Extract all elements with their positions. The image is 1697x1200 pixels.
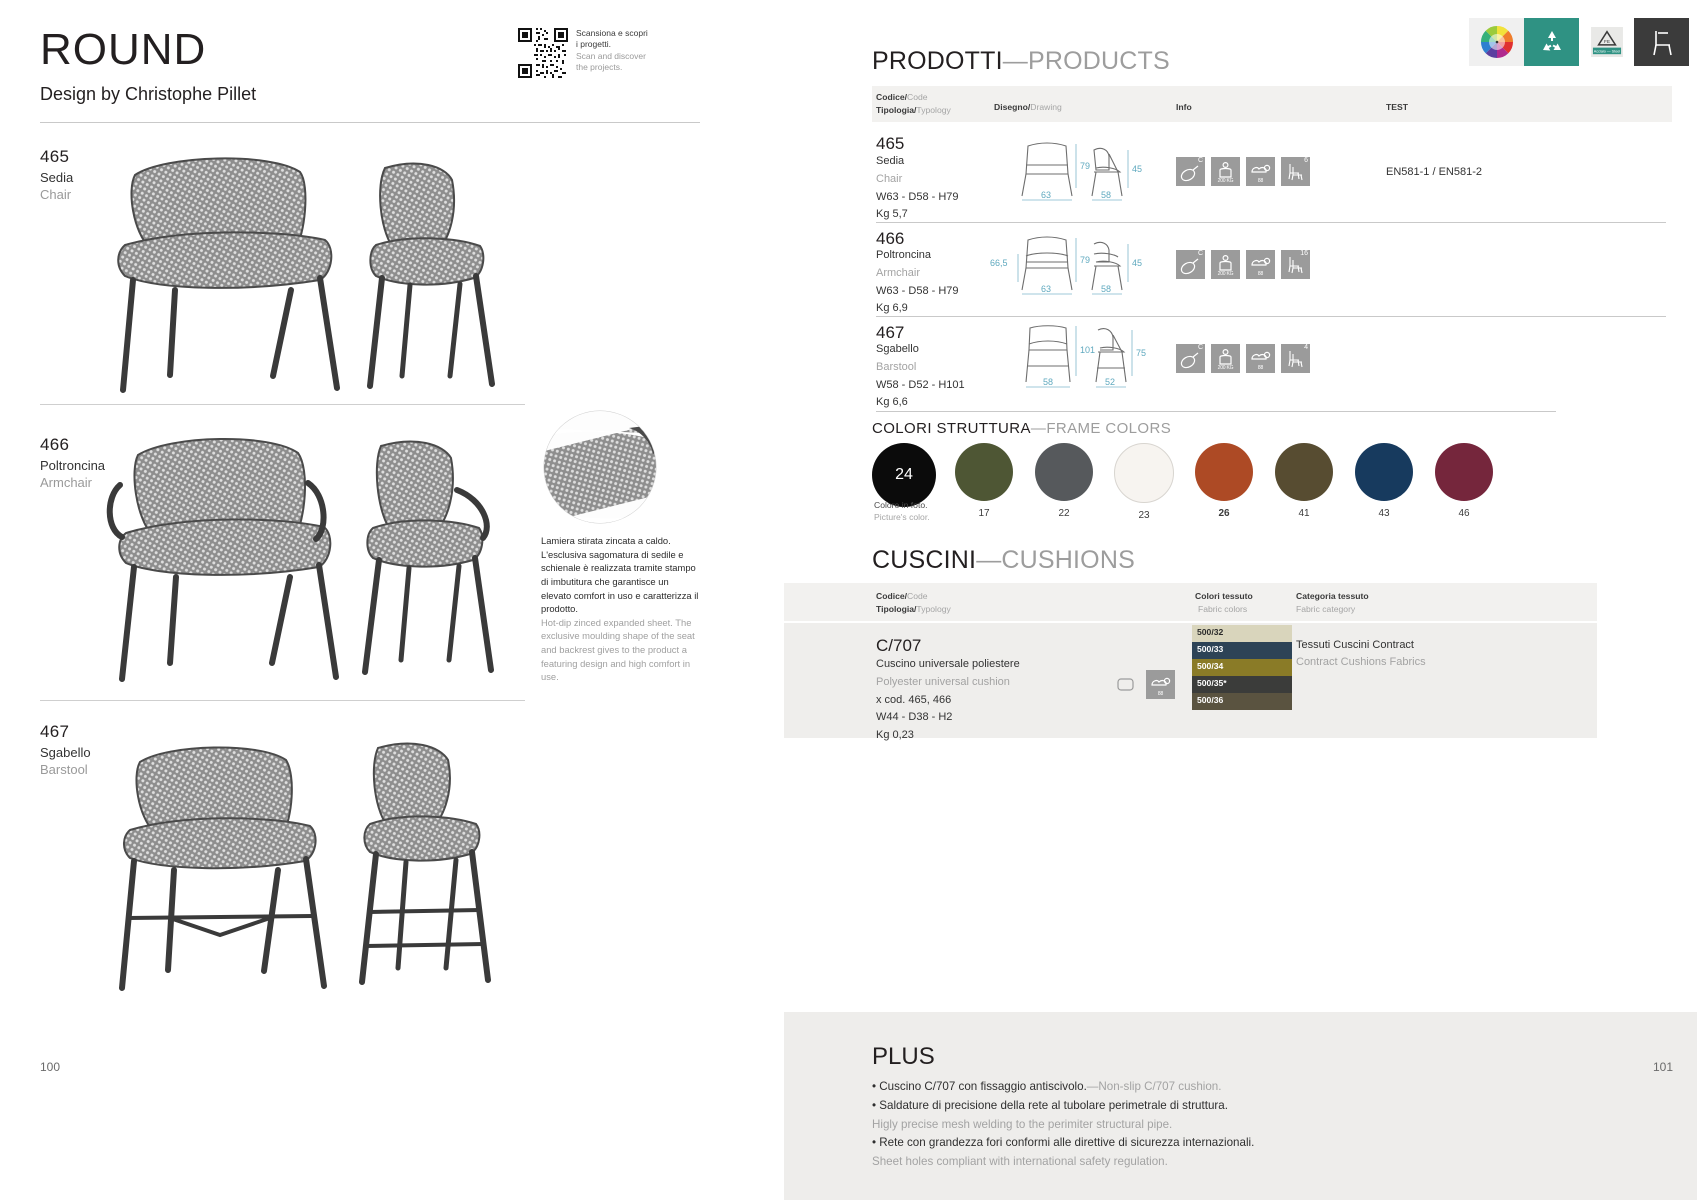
fabric-swatch[interactable]: 500/32 xyxy=(1192,625,1292,642)
frame-colors-title-dash: — xyxy=(1031,420,1046,437)
col-test-label: TEST xyxy=(1386,102,1408,112)
cushion-dims: W44 - D38 - H2 xyxy=(876,709,1020,727)
row-465-front-width: 63 xyxy=(1041,190,1051,200)
paint-roller-icon: C xyxy=(1176,157,1205,186)
cushion-col-fabric-category: Categoria tessuto Fabric category xyxy=(1296,590,1369,616)
product-code: 467 xyxy=(40,722,91,742)
cushion-name-it: Cuscino universale poliestere xyxy=(876,656,1020,674)
row-467-icons: C 200 KG 88 4 xyxy=(1176,344,1310,373)
paint-roller-icon: C xyxy=(1176,250,1205,279)
page-number-left: 100 xyxy=(40,1060,60,1074)
weather-icon: 88 xyxy=(1246,157,1275,186)
weather-icon: 88 xyxy=(1146,670,1175,699)
row-465-info: Sedia Chair W63 - D58 - H79 Kg 5,7 xyxy=(876,153,959,224)
swatch-label: 22 xyxy=(1024,508,1104,519)
catalog-spread: ROUND Design by Christophe Pillet xyxy=(0,0,1697,1200)
row-465-code: 465 xyxy=(876,134,904,154)
fabric-swatch[interactable]: 500/34 xyxy=(1192,659,1292,676)
swatch-label: 43 xyxy=(1344,508,1424,519)
divider-2 xyxy=(40,700,525,701)
svg-text:FE: FE xyxy=(1604,39,1610,44)
col-code-en: Code xyxy=(907,92,928,102)
fabric-label: 500/32 xyxy=(1197,627,1223,637)
recycle-icon xyxy=(1524,18,1579,66)
cushion-compat: x cod. 465, 466 xyxy=(876,692,1020,710)
title-divider xyxy=(40,122,700,123)
cushion-weight: Kg 0,23 xyxy=(876,727,1020,745)
weight-label: 200 KG xyxy=(1211,271,1240,277)
product-name-it: Sedia xyxy=(40,170,73,185)
weight-icon: 200 KG xyxy=(1211,344,1240,373)
swatch-inner-label: 24 xyxy=(895,466,913,484)
cushion-code: C/707 xyxy=(876,636,921,656)
products-title-en: PRODUCTS xyxy=(1028,47,1170,75)
weather-label: 88 xyxy=(1246,365,1275,371)
fabric-label: 500/35* xyxy=(1197,678,1227,688)
row-466-info: Poltroncina Armchair W63 - D58 - H79 Kg … xyxy=(876,247,959,318)
swatch-41[interactable]: 41 xyxy=(1264,443,1344,521)
product-name-en: Armchair xyxy=(40,475,105,490)
fabric-swatch[interactable]: 500/33 xyxy=(1192,642,1292,659)
stacking-icon: 6 xyxy=(1281,157,1310,186)
row-466-front-height: 79 xyxy=(1080,255,1090,265)
weight-label: 200 KG xyxy=(1211,365,1240,371)
row-465-side-width: 58 xyxy=(1101,190,1111,200)
swatch-color: 24 xyxy=(872,443,936,507)
weather-icon: 88 xyxy=(1246,344,1275,373)
row-467-drawing: 101 58 75 52 xyxy=(1010,324,1150,396)
products-title-dash: — xyxy=(1003,47,1028,75)
row-465-name-it: Sedia xyxy=(876,153,959,171)
icon-sup: 6 xyxy=(1304,157,1308,164)
frame-colors-title-en: FRAME COLORS xyxy=(1046,420,1171,437)
icon-sup: C xyxy=(1198,250,1203,257)
product-name-en: Barstool xyxy=(40,762,91,777)
barstool-467-photo xyxy=(100,730,520,1005)
row-467-front-width: 58 xyxy=(1043,377,1053,387)
qr-caption: Scansiona e scopri i progetti. Scan and … xyxy=(576,28,648,74)
col-drawing-it: Disegno/ xyxy=(994,102,1030,112)
cushion-icons: 88 xyxy=(1111,670,1175,699)
product-name-it: Sgabello xyxy=(40,745,91,760)
fabric-category-value-it: Tessuti Cuscini Contract xyxy=(1296,637,1426,654)
qr-block: Scansiona e scopri i progetti. Scan and … xyxy=(518,28,648,78)
row-465-side-height: 45 xyxy=(1132,164,1142,174)
row-466-dims: W63 - D58 - H79 xyxy=(876,283,959,301)
steel-recycle-icon: FE Acciaio — Steel xyxy=(1579,18,1634,66)
swatch-color xyxy=(1035,443,1093,501)
cushion-icon xyxy=(1111,670,1140,699)
weather-icon: 88 xyxy=(1246,250,1275,279)
cushions-title-dash: — xyxy=(976,546,1001,574)
row-466-side-height: 45 xyxy=(1132,258,1142,268)
badge-strip: FE Acciaio — Steel xyxy=(1469,18,1689,66)
cushion-col-code-it: Codice/ xyxy=(876,591,907,601)
weather-label: 88 xyxy=(1246,271,1275,277)
col-typology-en: Typology xyxy=(916,105,950,115)
fabric-category-en: Fabric category xyxy=(1296,604,1355,614)
picture-color-note-en: Picture's color. xyxy=(874,511,930,523)
cushion-col-code: Codice/Code Tipologia/Typology xyxy=(876,590,951,616)
swatch-color xyxy=(1435,443,1493,501)
qr-caption-en-2: the projects. xyxy=(576,62,648,73)
page-title: ROUND xyxy=(40,28,256,72)
plus-item-3-en: Sheet holes compliant with international… xyxy=(872,1153,1254,1172)
fabric-colors-it: Colori tessuto xyxy=(1195,591,1253,601)
armchair-466-photo xyxy=(100,425,520,690)
designer-credit: Design by Christophe Pillet xyxy=(40,84,256,105)
row-467-info: Sgabello Barstool W58 - D52 - H101 Kg 6,… xyxy=(876,341,965,412)
row-465-test: EN581-1 / EN581-2 xyxy=(1386,166,1482,178)
row-467-side-height: 75 xyxy=(1136,348,1146,358)
mesh-detail-photo xyxy=(543,410,657,524)
cushion-col-code-en: Code xyxy=(907,591,928,601)
col-info-label: Info xyxy=(1176,102,1192,112)
row-465-name-en: Chair xyxy=(876,171,959,189)
qr-caption-it-2: i progetti. xyxy=(576,39,648,50)
product-name-en: Chair xyxy=(40,187,73,202)
product-name-it: Poltroncina xyxy=(40,458,105,473)
left-product-467: 467 Sgabello Barstool xyxy=(40,722,91,777)
fabric-category-value: Tessuti Cuscini Contract Contract Cushio… xyxy=(1296,637,1426,670)
swatch-color xyxy=(1195,443,1253,501)
weather-label: 88 xyxy=(1246,178,1275,184)
weather-label: 88 xyxy=(1146,691,1175,697)
weight-icon: 200 KG xyxy=(1211,157,1240,186)
plus-title: PLUS xyxy=(872,1043,935,1071)
right-page: FE Acciaio — Steel PRODOTTI—PRODUCTS C xyxy=(848,0,1697,1200)
divider-1 xyxy=(40,404,525,405)
row-467-name-it: Sgabello xyxy=(876,341,965,359)
row-467-name-en: Barstool xyxy=(876,359,965,377)
plus-item-2-en: Higly precise mesh welding to the perimi… xyxy=(872,1116,1254,1135)
fabric-swatch-stack: 500/32 500/33 500/34 500/35* 500/36 xyxy=(1192,625,1292,710)
cushion-name-en: Polyester universal cushion xyxy=(876,674,1020,692)
paint-roller-icon: C xyxy=(1176,344,1205,373)
swatch-label: 23 xyxy=(1104,510,1184,521)
row-465-front-height: 79 xyxy=(1080,161,1090,171)
steel-badge-label: Acciaio — Steel xyxy=(1593,50,1620,54)
plus-item-2-it: • Saldature di precisione della rete al … xyxy=(872,1097,1254,1116)
fabric-swatch[interactable]: 500/36 xyxy=(1192,693,1292,710)
left-product-466: 466 Poltroncina Armchair xyxy=(40,435,105,490)
page-number-right: 101 xyxy=(1653,1060,1673,1074)
swatch-color xyxy=(1275,443,1333,501)
fabric-label: 500/34 xyxy=(1197,661,1223,671)
row-466-icons: C 200 KG 88 16 xyxy=(1176,250,1310,279)
row-466-arm-height: 66,5 xyxy=(990,258,1008,268)
qr-code-icon[interactable] xyxy=(518,28,568,78)
row-466-name-en: Armchair xyxy=(876,265,959,283)
cushions-section-title: CUSCINI—CUSHIONS xyxy=(872,546,1135,575)
plus-item-1-dash: — xyxy=(1087,1080,1099,1093)
material-note: Lamiera stirata zincata a caldo. L'esclu… xyxy=(541,534,701,684)
material-note-it: Lamiera stirata zincata a caldo. L'esclu… xyxy=(541,534,701,616)
fabric-swatch[interactable]: 500/35* xyxy=(1192,676,1292,693)
row-466-drawing: 66,5 79 63 45 58 xyxy=(974,232,1154,300)
material-note-en: Hot-dip zinced expanded sheet. The exclu… xyxy=(541,616,701,684)
qr-caption-en-1: Scan and discover xyxy=(576,51,648,62)
row-466-side-width: 58 xyxy=(1101,284,1111,294)
cushion-info: Cuscino universale poliestere Polyester … xyxy=(876,656,1020,745)
plus-list: • Cuscino C/707 con fissaggio antiscivol… xyxy=(872,1078,1254,1172)
row-divider-3 xyxy=(876,411,1556,412)
products-section-title: PRODOTTI—PRODUCTS xyxy=(872,47,1170,76)
products-title-it: PRODOTTI xyxy=(872,47,1003,75)
qr-caption-it-1: Scansiona e scopri xyxy=(576,28,648,39)
swatch-46[interactable]: 46 xyxy=(1424,443,1504,521)
row-466-name-it: Poltroncina xyxy=(876,247,959,265)
col-test: TEST xyxy=(1386,101,1408,114)
stacking-icon: 4 xyxy=(1281,344,1310,373)
icon-sup: 16 xyxy=(1300,250,1308,257)
swatch-26[interactable]: 26 xyxy=(1184,443,1264,521)
product-code: 466 xyxy=(40,435,105,455)
fabric-category-it: Categoria tessuto xyxy=(1296,591,1369,601)
frame-colors-title-it: COLORI STRUTTURA xyxy=(872,420,1031,437)
cushion-col-typology-en: Typology xyxy=(916,604,950,614)
left-page: ROUND Design by Christophe Pillet xyxy=(0,0,848,1200)
row-divider-2 xyxy=(876,316,1666,317)
col-code: Codice/Code Tipologia/Typology xyxy=(876,91,951,117)
row-467-code: 467 xyxy=(876,323,904,343)
weight-icon: 200 KG xyxy=(1211,250,1240,279)
swatch-22[interactable]: 22 xyxy=(1024,443,1104,521)
plus-item-1: • Cuscino C/707 con fissaggio antiscivol… xyxy=(872,1078,1254,1097)
plus-item-1-it: • Cuscino C/707 con fissaggio antiscivol… xyxy=(872,1080,1087,1093)
product-code: 465 xyxy=(40,147,73,167)
row-465-drawing: 79 63 45 58 xyxy=(1010,138,1150,206)
col-code-it: Codice/ xyxy=(876,92,907,102)
row-467-front-height: 101 xyxy=(1080,345,1095,355)
title-block: ROUND Design by Christophe Pillet xyxy=(40,28,256,105)
row-467-side-width: 52 xyxy=(1105,377,1115,387)
swatch-label: 41 xyxy=(1264,508,1344,519)
swatch-label: 26 xyxy=(1184,508,1264,519)
swatch-43[interactable]: 43 xyxy=(1344,443,1424,521)
cushion-col-fabric-colors: Colori tessuto Fabric colors xyxy=(1195,590,1253,616)
plus-item-3-it: • Rete con grandezza fori conformi alle … xyxy=(872,1134,1254,1153)
picture-color-note-it: Colore in foto. xyxy=(874,499,930,511)
row-465-dims: W63 - D58 - H79 xyxy=(876,189,959,207)
col-drawing-en: Drawing xyxy=(1030,102,1062,112)
row-divider-1 xyxy=(876,222,1666,223)
fabric-label: 500/33 xyxy=(1197,644,1223,654)
swatch-color xyxy=(955,443,1013,501)
row-467-weight: Kg 6,6 xyxy=(876,394,965,412)
icon-sup: C xyxy=(1198,157,1203,164)
icon-sup: 4 xyxy=(1304,344,1308,351)
swatch-23[interactable]: 23 xyxy=(1104,443,1184,521)
row-467-dims: W58 - D52 - H101 xyxy=(876,377,965,395)
picture-color-note: Colore in foto. Picture's color. xyxy=(874,499,930,523)
col-typology-it: Tipologia/ xyxy=(876,105,916,115)
fabric-label: 500/36 xyxy=(1197,695,1223,705)
stacking-icon: 16 xyxy=(1281,250,1310,279)
plus-item-1-en: Non-slip C/707 cushion. xyxy=(1098,1080,1221,1093)
swatch-label: 17 xyxy=(944,508,1024,519)
col-drawing: Disegno/Drawing xyxy=(994,101,1062,114)
left-product-465: 465 Sedia Chair xyxy=(40,147,73,202)
row-465-icons: C 200 KG 88 6 xyxy=(1176,157,1310,186)
swatch-label: 46 xyxy=(1424,508,1504,519)
cushions-title-en: CUSHIONS xyxy=(1001,546,1135,574)
col-info: Info xyxy=(1176,101,1192,114)
frame-colors-title: COLORI STRUTTURA—FRAME COLORS xyxy=(872,420,1171,437)
cushions-title-it: CUSCINI xyxy=(872,546,976,574)
row-466-code: 466 xyxy=(876,229,904,249)
weight-label: 200 KG xyxy=(1211,178,1240,184)
fabric-category-value-en: Contract Cushions Fabrics xyxy=(1296,654,1426,671)
chair-465-photo xyxy=(95,140,525,400)
color-wheel-icon xyxy=(1469,18,1524,66)
row-466-front-width: 63 xyxy=(1041,284,1051,294)
fabric-colors-en: Fabric colors xyxy=(1198,604,1247,614)
frame-color-swatches: 24 17 22 23 26 41 xyxy=(864,443,1504,521)
products-table-header xyxy=(872,86,1672,122)
swatch-color xyxy=(1114,443,1174,503)
chair-outline-icon xyxy=(1634,18,1689,66)
swatch-17[interactable]: 17 xyxy=(944,443,1024,521)
icon-sup: C xyxy=(1198,344,1203,351)
swatch-color xyxy=(1355,443,1413,501)
cushion-col-typology-it: Tipologia/ xyxy=(876,604,916,614)
